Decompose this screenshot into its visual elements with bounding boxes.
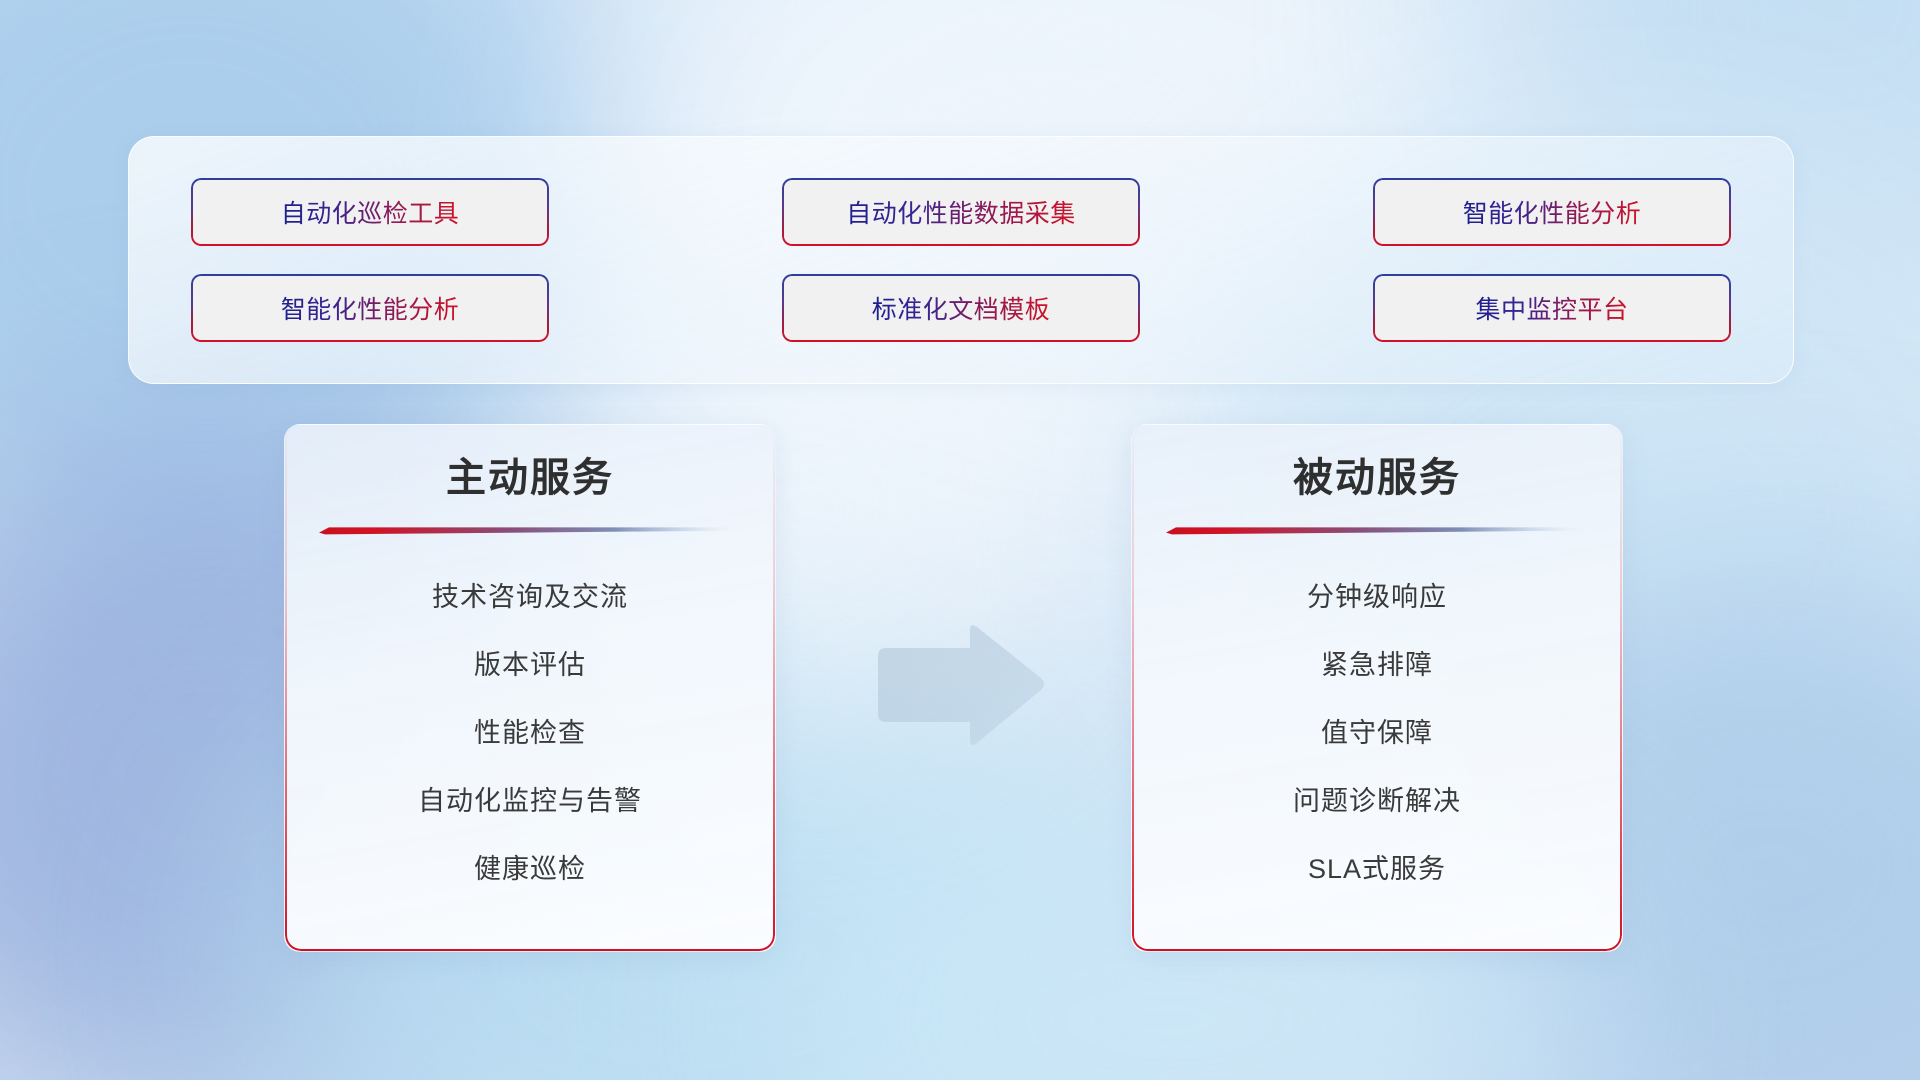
- service-card-title: 被动服务: [1166, 455, 1588, 501]
- capability-tag-label: 集中监控平台: [1475, 290, 1628, 326]
- arrow-right-block-icon: [874, 622, 1046, 750]
- capability-tag-label: 智能化性能分析: [281, 290, 460, 326]
- title-divider: [319, 525, 741, 535]
- slide-canvas: 自动化巡检工具 自动化性能数据采集 智能化性能分析 智能化性能分析 标准化文档模…: [0, 0, 1920, 1080]
- capability-tag-row-1: 自动化巡检工具 自动化性能数据采集 智能化性能分析: [191, 178, 1731, 246]
- service-list-item: 值守保障: [1166, 717, 1588, 749]
- service-list-item: 自动化监控与告警: [319, 785, 741, 817]
- service-list-item: 问题诊断解决: [1166, 785, 1588, 817]
- title-divider: [1166, 525, 1588, 535]
- service-card-inner: 被动服务: [1132, 425, 1622, 951]
- service-list-item: SLA式服务: [1166, 853, 1588, 885]
- service-card-passive[interactable]: 被动服务: [1131, 424, 1623, 952]
- service-list-item: 版本评估: [319, 649, 741, 681]
- service-card-title: 主动服务: [319, 455, 741, 501]
- service-list-item: 性能检查: [319, 717, 741, 749]
- service-list-item: 技术咨询及交流: [319, 581, 741, 613]
- capability-tag-label: 标准化文档模板: [872, 290, 1051, 326]
- capability-tag[interactable]: 集中监控平台: [1373, 274, 1731, 342]
- service-list-item: 健康巡检: [319, 853, 741, 885]
- capability-tag-label: 自动化性能数据采集: [846, 194, 1076, 230]
- capability-tag[interactable]: 智能化性能分析: [1373, 178, 1731, 246]
- capability-tag-row-2: 智能化性能分析 标准化文档模板 集中监控平台: [191, 274, 1731, 342]
- service-card-active[interactable]: 主动服务: [284, 424, 776, 952]
- capability-tag-label: 智能化性能分析: [1463, 194, 1642, 230]
- service-card-inner: 主动服务: [285, 425, 775, 951]
- capability-tag[interactable]: 标准化文档模板: [782, 274, 1140, 342]
- capability-tag[interactable]: 自动化性能数据采集: [782, 178, 1140, 246]
- capability-panel: 自动化巡检工具 自动化性能数据采集 智能化性能分析 智能化性能分析 标准化文档模…: [128, 136, 1794, 384]
- service-card-list: 技术咨询及交流 版本评估 性能检查 自动化监控与告警 健康巡检: [319, 539, 741, 925]
- service-list-item: 紧急排障: [1166, 649, 1588, 681]
- capability-tag-label: 自动化巡检工具: [281, 194, 460, 230]
- service-list-item: 分钟级响应: [1166, 581, 1588, 613]
- capability-tag[interactable]: 自动化巡检工具: [191, 178, 549, 246]
- capability-tag[interactable]: 智能化性能分析: [191, 274, 549, 342]
- service-card-list: 分钟级响应 紧急排障 值守保障 问题诊断解决 SLA式服务: [1166, 539, 1588, 925]
